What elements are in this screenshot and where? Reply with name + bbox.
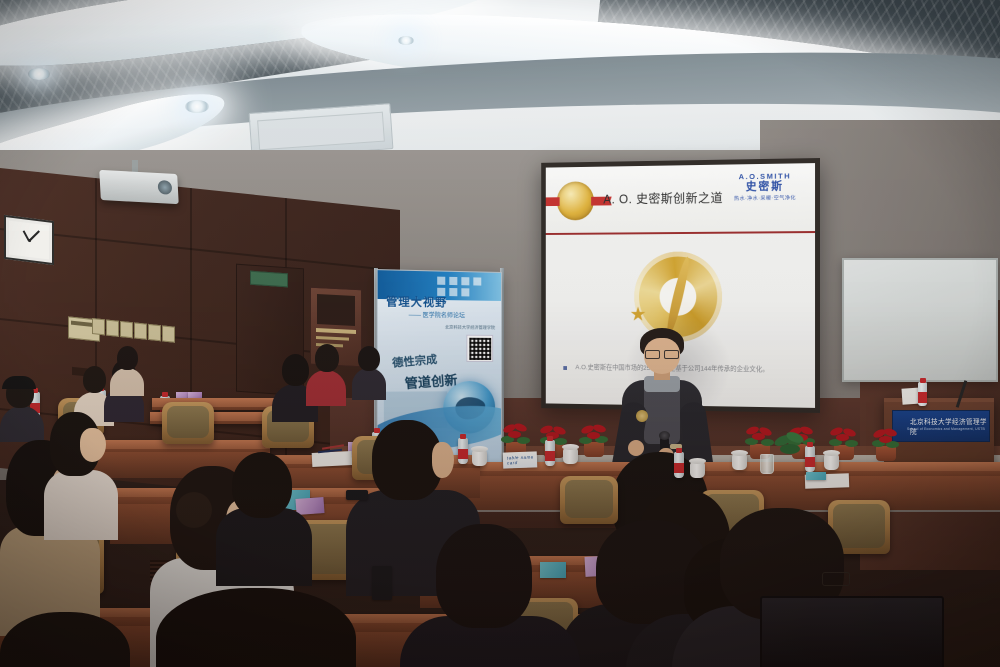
ceiling-projector-icon (99, 170, 178, 204)
wall-clock-icon (4, 215, 54, 265)
audience-member (44, 412, 114, 532)
lecture-hall-photo: A. O. 史密斯创新之道 A.O.SMITH 史密斯 热水·净水·采暖·空气净… (0, 0, 1000, 667)
potted-green-plant (770, 430, 810, 466)
banner-subtitle: —— 医学院名师论坛 (409, 310, 465, 320)
banner-title: 管理大视野 (386, 293, 447, 310)
water-bottle (805, 446, 815, 472)
bullet-marker-icon (563, 366, 567, 370)
audience-member (306, 344, 346, 404)
water-bottle (918, 382, 927, 406)
brand-name-cn: 史密斯 (723, 180, 807, 193)
laptop-screen[interactable] (760, 596, 944, 667)
hair-bun-icon (176, 492, 212, 528)
mobile-phone[interactable] (372, 566, 392, 600)
audience-face (432, 442, 454, 478)
audience-member (0, 612, 140, 667)
tea-cup (824, 454, 839, 470)
slide-header: A. O. 史密斯创新之道 A.O.SMITH 史密斯 热水·净水·采暖·空气净… (546, 163, 815, 235)
tea-cup (563, 448, 578, 464)
audience-member (216, 452, 306, 572)
tea-cup (690, 462, 705, 478)
audience-member (400, 524, 560, 667)
audience-member (136, 588, 386, 667)
anniversary-medal-icon (557, 181, 594, 220)
tea-cup (732, 454, 747, 470)
podium-sign-cn: 北京科技大学经济管理学院 (910, 416, 989, 436)
spotlight-icon (185, 100, 209, 113)
ao-smith-logo: A.O.SMITH 史密斯 热水·净水·采暖·空气净化 (723, 171, 807, 202)
whiteboard (842, 258, 998, 382)
table-name-card: table name card (503, 451, 538, 468)
qr-code-icon (466, 335, 493, 362)
audience-member (352, 346, 386, 396)
teal-brochure (806, 472, 826, 480)
speaker-badge-icon (636, 410, 648, 422)
banner-slogan-line1: 德性宗成 (392, 351, 438, 371)
exit-sign-icon (250, 271, 288, 288)
water-bottle (674, 452, 684, 478)
audience-member (110, 346, 144, 392)
spotlight-icon (398, 36, 414, 45)
glasses-icon (644, 350, 680, 357)
water-bottle (545, 440, 555, 466)
glasses-icon (822, 572, 850, 586)
banner-organizer: 北京科技大学经济管理学院 (445, 324, 495, 331)
drinking-glass (760, 454, 774, 474)
audience-face (80, 428, 106, 462)
auditorium-chair[interactable] (162, 402, 214, 444)
auditorium-chair[interactable] (560, 476, 618, 524)
mobile-phone[interactable] (346, 490, 368, 500)
audience-member (0, 378, 44, 438)
tea-cup (472, 450, 487, 466)
brand-tagline: 热水·净水·采暖·空气净化 (723, 193, 807, 202)
spotlight-icon (28, 68, 50, 80)
name-card-text: table name card (507, 454, 537, 465)
cap-icon (2, 376, 36, 389)
